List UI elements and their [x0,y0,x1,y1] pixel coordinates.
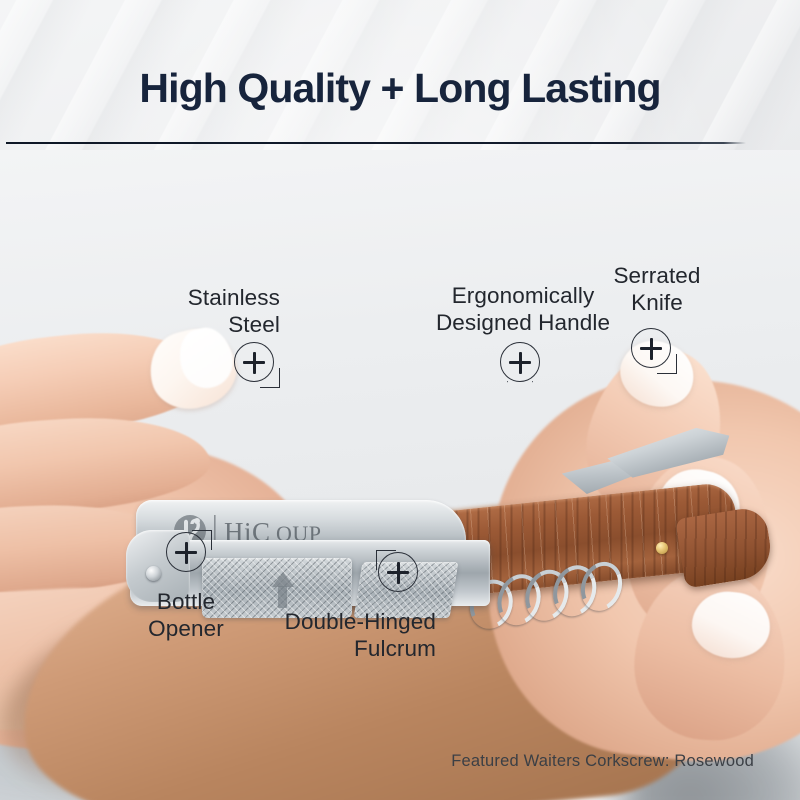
plus-icon-vertical [650,338,653,360]
callout-tail [192,530,212,550]
callout-tail [376,550,396,570]
marker-ergonomic-handle[interactable] [500,342,544,386]
waiters-corkscrew: HiC OUP [120,390,740,620]
marker-bottle-opener[interactable] [166,532,210,576]
plus-icon-vertical [185,542,188,564]
callout-tail [657,354,677,374]
header-divider [6,142,746,144]
marker-stainless-steel[interactable] [234,342,278,386]
header: High Quality + Long Lasting [0,0,800,150]
plus-icon-vertical [253,352,256,374]
footer-caption: Featured Waiters Corkscrew: Rosewood [451,752,754,771]
callout-tail [260,368,280,388]
infographic-canvas: High Quality + Long Lasting [0,0,800,800]
corkscrew-helix [466,562,637,633]
pivot-rivet [146,566,161,581]
fulcrum-arrow-stem [278,586,287,608]
plus-icon-vertical [519,352,522,374]
fulcrum-arrow-icon [272,572,294,587]
brass-pin [656,542,668,554]
label-stainless-steel: Stainless Steel [80,284,280,339]
label-double-hinged-fulcrum: Double-Hinged Fulcrum [188,608,436,663]
marker-double-hinged-fulcrum[interactable] [378,552,422,596]
plus-icon-vertical [397,562,400,584]
label-serrated-knife: Serrated Knife [562,262,752,317]
page-title: High Quality + Long Lasting [0,68,800,109]
product-photo: HiC OUP [0,150,800,800]
